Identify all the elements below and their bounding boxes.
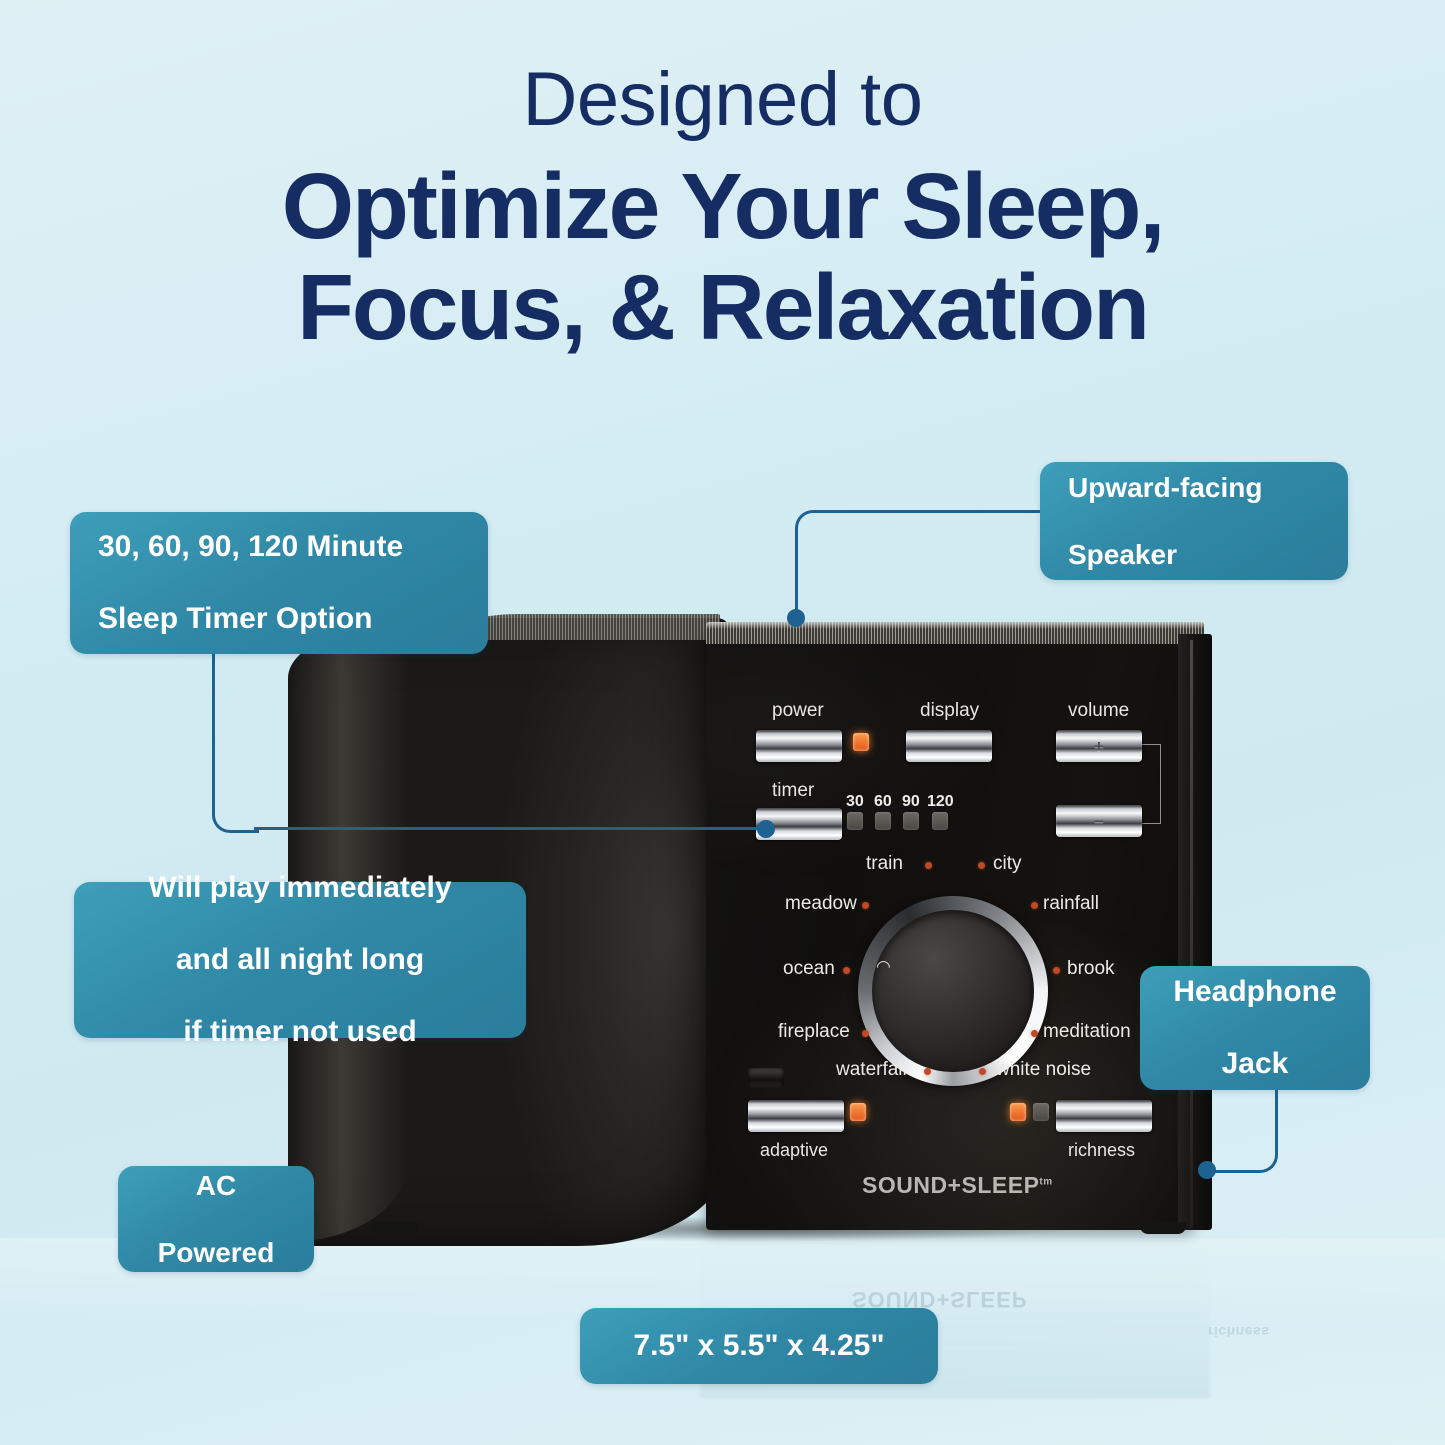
richness-button[interactable] <box>1056 1100 1152 1132</box>
connector-sleep-timer-horizontal <box>254 827 764 833</box>
sound-led-ocean <box>843 967 850 974</box>
sound-led-rainfall <box>1031 902 1038 909</box>
display-button[interactable] <box>906 730 992 762</box>
callout-headphone-jack-line2: Jack <box>1154 1046 1356 1082</box>
headphone-jack-port[interactable] <box>748 1068 784 1088</box>
sound-led-train <box>925 862 932 869</box>
callout-ac-powered-line2: Powered <box>132 1236 300 1270</box>
callout-ac-powered-line1: AC <box>132 1169 300 1203</box>
callout-headphone-jack[interactable]: Headphone Jack <box>1140 966 1370 1090</box>
richness-led <box>1010 1103 1026 1121</box>
speaker-grille-left <box>460 614 720 640</box>
callout-dimensions[interactable]: 7.5" x 5.5" x 4.25" <box>580 1308 938 1384</box>
callout-headphone-jack-line1: Headphone <box>1154 974 1356 1010</box>
sound-led-waterfall <box>924 1068 931 1075</box>
callout-sleep-timer-line1: 30, 60, 90, 120 Minute <box>98 529 460 565</box>
callout-sleep-timer-line2: Sleep Timer Option <box>98 601 460 637</box>
sound-led-white-noise <box>979 1068 986 1075</box>
connector-sleep-timer-vertical <box>212 652 259 833</box>
callout-play-behavior-line3: if timer not used <box>98 1014 502 1050</box>
callout-play-behavior[interactable]: Will play immediately and all night long… <box>74 882 526 1038</box>
connector-dot-sleep-timer <box>757 820 775 838</box>
callout-play-behavior-line2: and all night long <box>98 942 502 978</box>
brand-trademark: tm <box>1039 1176 1052 1187</box>
timer-led-90 <box>903 812 919 830</box>
sound-led-meditation <box>1031 1030 1038 1037</box>
sound-label-city: city <box>993 853 1022 875</box>
connector-headphone-path <box>1205 1090 1278 1173</box>
timer-option-120: 120 <box>927 793 954 811</box>
sound-label-meditation: meditation <box>1043 1021 1131 1043</box>
power-led <box>853 733 869 751</box>
connector-dot-headphone <box>1198 1161 1216 1179</box>
sound-led-fireplace <box>862 1030 869 1037</box>
device-side-seam <box>1190 640 1193 1228</box>
sound-led-meadow <box>862 902 869 909</box>
adaptive-button[interactable] <box>748 1100 844 1132</box>
product-infographic: Designed to Optimize Your Sleep, Focus, … <box>0 0 1445 1445</box>
sound-label-train: train <box>866 853 903 875</box>
sound-label-fireplace: fireplace <box>778 1021 850 1043</box>
power-label: power <box>772 700 824 722</box>
brand-logo-text: SOUND+SLEEP <box>862 1172 1039 1198</box>
timer-option-60: 60 <box>874 793 892 811</box>
sound-led-brook <box>1053 967 1060 974</box>
sound-label-waterfall: waterfall <box>836 1059 907 1081</box>
device-foot-left <box>372 1222 418 1234</box>
sound-label-rainfall: rainfall <box>1043 893 1099 915</box>
adaptive-led <box>850 1103 866 1121</box>
callout-dimensions-text: 7.5" x 5.5" x 4.25" <box>600 1328 918 1364</box>
sound-led-city <box>978 862 985 869</box>
sound-label-ocean: ocean <box>783 958 835 980</box>
callout-upward-speaker-line2: Speaker <box>1068 538 1320 572</box>
timer-option-90: 90 <box>902 793 920 811</box>
richness-label: richness <box>1068 1140 1135 1161</box>
device-foot-right <box>1140 1222 1186 1234</box>
timer-led-60 <box>875 812 891 830</box>
dial-pointer-icon: ◠ <box>876 957 891 977</box>
callout-upward-speaker-line1: Upward-facing <box>1068 471 1320 505</box>
display-label: display <box>920 700 979 722</box>
sound-label-meadow: meadow <box>785 893 857 915</box>
adaptive-label: adaptive <box>760 1140 828 1161</box>
brand-logo: SOUND+SLEEPtm <box>862 1172 1053 1199</box>
callout-play-behavior-line1: Will play immediately <box>98 870 502 906</box>
connector-speaker-path <box>795 510 1044 625</box>
callout-upward-speaker[interactable]: Upward-facing Speaker <box>1040 462 1348 580</box>
callout-sleep-timer[interactable]: 30, 60, 90, 120 Minute Sleep Timer Optio… <box>70 512 488 654</box>
connector-dot-speaker <box>787 609 805 627</box>
timer-label: timer <box>772 780 814 802</box>
sound-label-brook: brook <box>1067 958 1115 980</box>
richness-led-off <box>1033 1103 1049 1121</box>
volume-down-icon: − <box>1094 812 1104 832</box>
timer-option-30: 30 <box>846 793 864 811</box>
timer-led-120 <box>932 812 948 830</box>
sound-label-white-noise: white noise <box>996 1059 1091 1081</box>
volume-bracket <box>1142 744 1161 824</box>
volume-up-icon: + <box>1094 737 1104 757</box>
callout-ac-powered[interactable]: AC Powered <box>118 1166 314 1272</box>
power-button[interactable] <box>756 730 842 762</box>
volume-label: volume <box>1068 700 1129 722</box>
timer-led-30 <box>847 812 863 830</box>
sound-selector-dial-face[interactable] <box>872 910 1034 1072</box>
